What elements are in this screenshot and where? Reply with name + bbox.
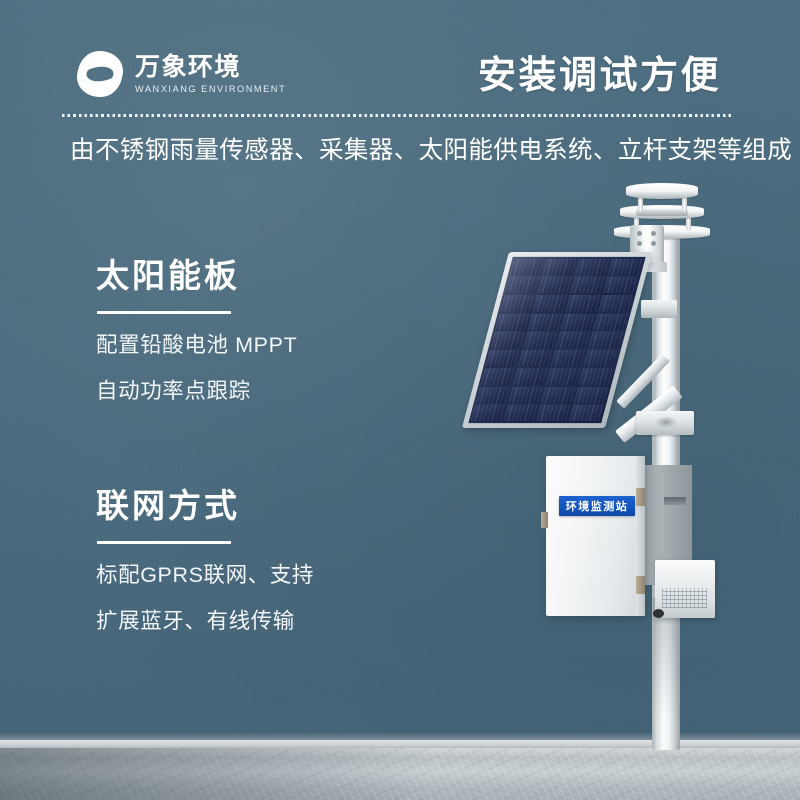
solar-cell — [537, 277, 573, 294]
feature-line: 标配GPRS联网、支持 — [96, 565, 314, 587]
solar-cell — [505, 277, 541, 294]
floor-shadow — [0, 748, 430, 800]
feature-line: 配置铅酸电池 MPPT — [96, 335, 297, 357]
solar-cell — [536, 405, 572, 422]
solar-cell — [560, 313, 596, 330]
solar-cell — [508, 387, 544, 404]
solar-cell — [569, 405, 605, 422]
solar-cell — [541, 387, 577, 404]
sensor-crossbar — [636, 209, 688, 216]
bracket-smudge — [655, 416, 677, 428]
sensor-port — [637, 241, 642, 246]
sensor-port — [651, 241, 656, 246]
solar-cell — [528, 313, 564, 330]
feature-underline — [97, 311, 231, 314]
subtitle: 由不锈钢雨量传感器、采集器、太阳能供电系统、立杆支架等组成 — [70, 131, 792, 166]
vent-grill — [662, 588, 707, 608]
solar-cell — [542, 258, 578, 275]
cabinet-hinge[interactable] — [636, 576, 645, 594]
solar-cell — [588, 332, 624, 349]
solar-cell — [503, 405, 539, 422]
solar-cell — [593, 313, 629, 330]
brand-logo: 万象环境 WANXIANG ENVIRONMENT — [74, 48, 286, 100]
headline: 安装调试方便 — [478, 44, 721, 99]
solar-cell — [495, 313, 531, 330]
solar-cell — [598, 295, 634, 312]
solar-cell — [583, 350, 619, 367]
control-cabinet-door — [546, 456, 644, 616]
solar-cell — [500, 295, 536, 312]
feature-block-network: 联网方式 标配GPRS联网、支持 扩展蓝牙、有线传输 — [96, 488, 314, 632]
feature-line: 扩展蓝牙、有线传输 — [96, 611, 314, 633]
feature-title: 太阳能板 — [96, 258, 297, 294]
feature-title: 联网方式 — [96, 488, 314, 524]
solar-cell — [490, 332, 526, 349]
solar-cell — [556, 332, 592, 349]
feature-block-solar-panel: 太阳能板 配置铅酸电池 MPPT 自动功率点跟踪 — [96, 258, 297, 402]
logo-text: 万象环境 WANXIANG ENVIRONMENT — [135, 54, 286, 93]
feature-underline — [97, 541, 231, 544]
solar-cell — [570, 277, 606, 294]
cabinet-label: 环境监测站 — [559, 496, 635, 516]
dotted-divider — [62, 114, 732, 117]
solar-cell — [603, 277, 639, 294]
solar-cell — [523, 332, 559, 349]
sensor-port — [637, 231, 642, 236]
solar-cell — [518, 350, 554, 367]
cabinet-hinge[interactable] — [636, 488, 645, 506]
solar-cell — [485, 350, 521, 367]
solar-cell — [575, 258, 611, 275]
solar-cell — [513, 368, 549, 385]
solar-cell — [574, 387, 610, 404]
solar-panel-pole-clamp-upper — [641, 300, 677, 318]
solar-cell — [608, 258, 644, 275]
solar-cell — [475, 387, 511, 404]
solar-cell — [510, 258, 546, 275]
logo-chinese-name: 万象环境 — [135, 54, 286, 80]
sensor-disc — [626, 183, 698, 199]
feature-line: 自动功率点跟踪 — [96, 381, 297, 403]
sensor-port — [651, 231, 656, 236]
cabinet-side-slot — [664, 497, 686, 505]
solar-cell — [565, 295, 601, 312]
logo-english-name: WANXIANG ENVIRONMENT — [135, 84, 286, 94]
solar-cell — [533, 295, 569, 312]
solar-cell — [551, 350, 587, 367]
solar-cell — [480, 368, 516, 385]
cabinet-latch[interactable] — [541, 512, 548, 528]
wanxiang-globe-logo-icon — [74, 48, 126, 100]
solar-cell — [579, 368, 615, 385]
solar-cell — [470, 405, 506, 422]
cable-gland — [653, 609, 664, 618]
solar-cell — [546, 368, 582, 385]
promo-banner: 万象环境 WANXIANG ENVIRONMENT 安装调试方便 由不锈钢雨量传… — [0, 0, 800, 800]
